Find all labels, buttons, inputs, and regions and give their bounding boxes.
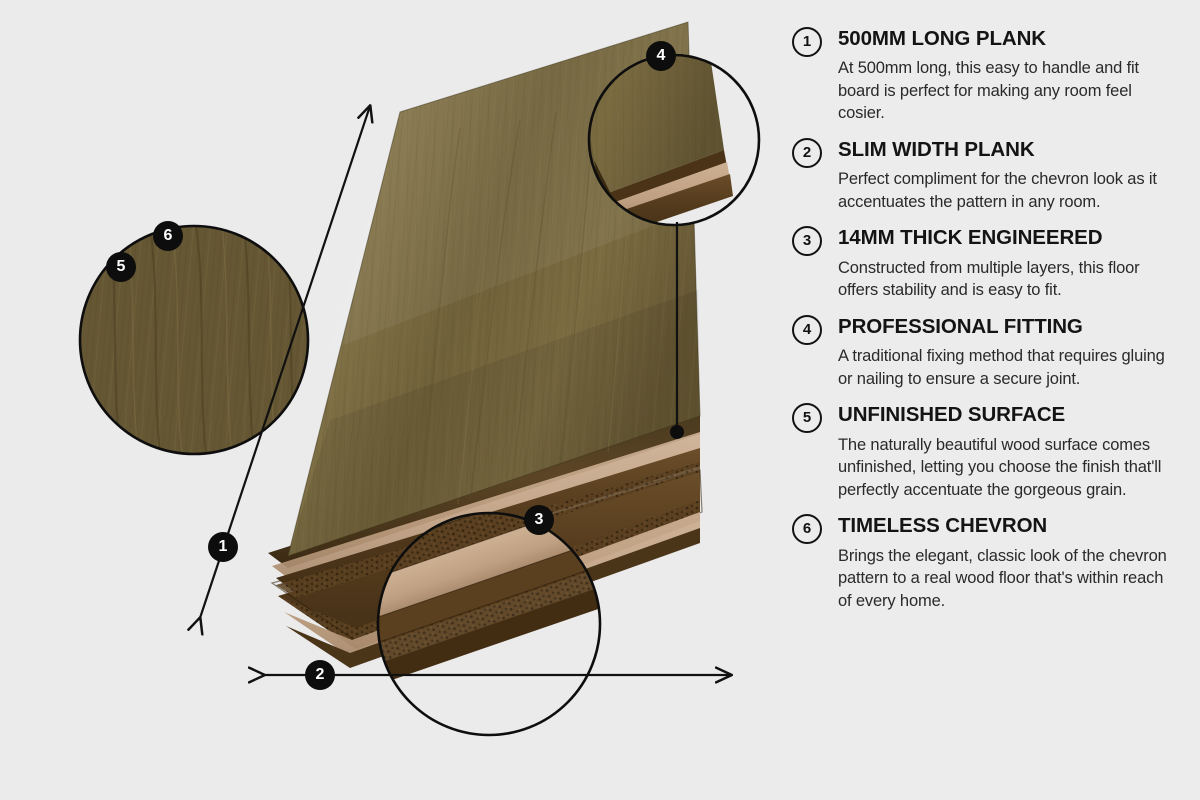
feature-item-2: 2 SLIM WIDTH PLANK Perfect compliment fo… — [788, 137, 1174, 213]
diagram-illustration — [0, 0, 780, 800]
feature-item-5: 5 UNFINISHED SURFACE The naturally beaut… — [788, 402, 1174, 501]
feature-description-6: Brings the elegant, classic look of the … — [838, 545, 1174, 613]
feature-title-4: PROFESSIONAL FITTING — [838, 314, 1174, 340]
feature-description-1: At 500mm long, this easy to handle and f… — [838, 57, 1174, 125]
product-diagram-panel: 1 2 3 4 5 6 — [0, 0, 780, 800]
feature-number-1: 1 — [792, 27, 822, 57]
marker-badge-4[interactable]: 4 — [646, 41, 676, 71]
marker-badge-1[interactable]: 1 — [208, 532, 238, 562]
feature-item-6: 6 TIMELESS CHEVRON Brings the elegant, c… — [788, 513, 1174, 612]
features-panel: 1 500MM LONG PLANK At 500mm long, this e… — [780, 0, 1200, 800]
feature-description-3: Constructed from multiple layers, this f… — [838, 257, 1174, 302]
infographic-root: 1 2 3 4 5 6 1 500MM LONG PLANK At 500mm … — [0, 0, 1200, 800]
feature-title-1: 500MM LONG PLANK — [838, 26, 1174, 52]
marker-badge-2[interactable]: 2 — [305, 660, 335, 690]
feature-item-4: 4 PROFESSIONAL FITTING A traditional fix… — [788, 314, 1174, 390]
feature-item-1: 1 500MM LONG PLANK At 500mm long, this e… — [788, 26, 1174, 125]
marker-badge-3[interactable]: 3 — [524, 505, 554, 535]
feature-title-2: SLIM WIDTH PLANK — [838, 137, 1174, 163]
marker-badge-5[interactable]: 5 — [106, 252, 136, 282]
feature-item-3: 3 14MM THICK ENGINEERED Constructed from… — [788, 225, 1174, 301]
feature-description-5: The naturally beautiful wood surface com… — [838, 434, 1174, 502]
feature-title-6: TIMELESS CHEVRON — [838, 513, 1174, 539]
feature-number-4: 4 — [792, 315, 822, 345]
feature-description-4: A traditional fixing method that require… — [838, 345, 1174, 390]
marker-badge-6[interactable]: 6 — [153, 221, 183, 251]
feature-number-5: 5 — [792, 403, 822, 433]
feature-title-5: UNFINISHED SURFACE — [838, 402, 1174, 428]
feature-title-3: 14MM THICK ENGINEERED — [838, 225, 1174, 251]
feature-number-3: 3 — [792, 226, 822, 256]
feature-description-2: Perfect compliment for the chevron look … — [838, 168, 1174, 213]
feature-number-2: 2 — [792, 138, 822, 168]
feature-number-6: 6 — [792, 514, 822, 544]
